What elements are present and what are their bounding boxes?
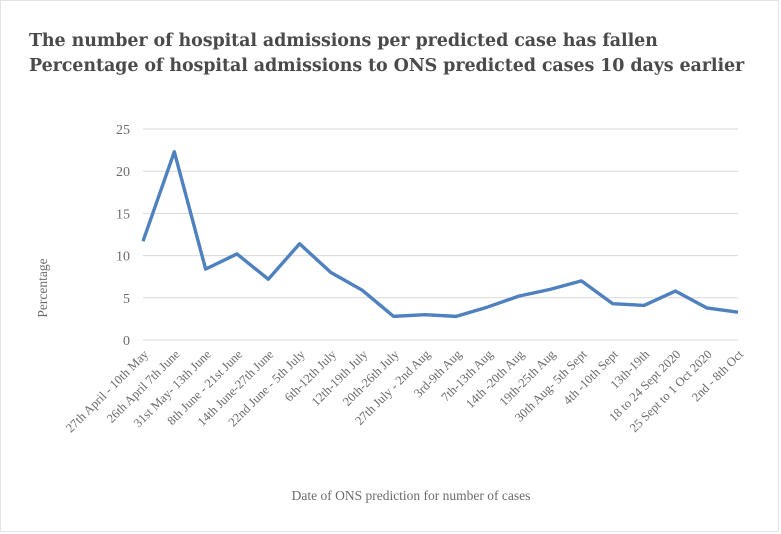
y-axis-tick-label: 0 (123, 334, 130, 349)
line-chart-svg: 0510152025 27th April - 10th May26th Apr… (1, 1, 780, 533)
chart-container: The number of hospital admissions per pr… (0, 0, 779, 532)
y-axis-tick-label: 10 (116, 250, 130, 265)
y-axis-tick-label: 25 (116, 123, 130, 138)
x-axis-title: Date of ONS prediction for number of cas… (292, 488, 531, 503)
x-axis-tick-labels: 27th April - 10th May26th April 7th June… (63, 347, 746, 436)
y-axis-tick-label: 20 (116, 165, 130, 180)
y-axis-tick-label: 15 (116, 207, 130, 222)
gridlines-group (143, 129, 738, 340)
plot-area-wrapper: 0510152025 27th April - 10th May26th Apr… (1, 1, 780, 533)
data-series-line (143, 152, 738, 317)
y-axis-title: Percentage (35, 258, 50, 317)
y-axis-tick-label: 5 (123, 292, 130, 307)
y-axis-tick-labels: 0510152025 (116, 123, 130, 349)
